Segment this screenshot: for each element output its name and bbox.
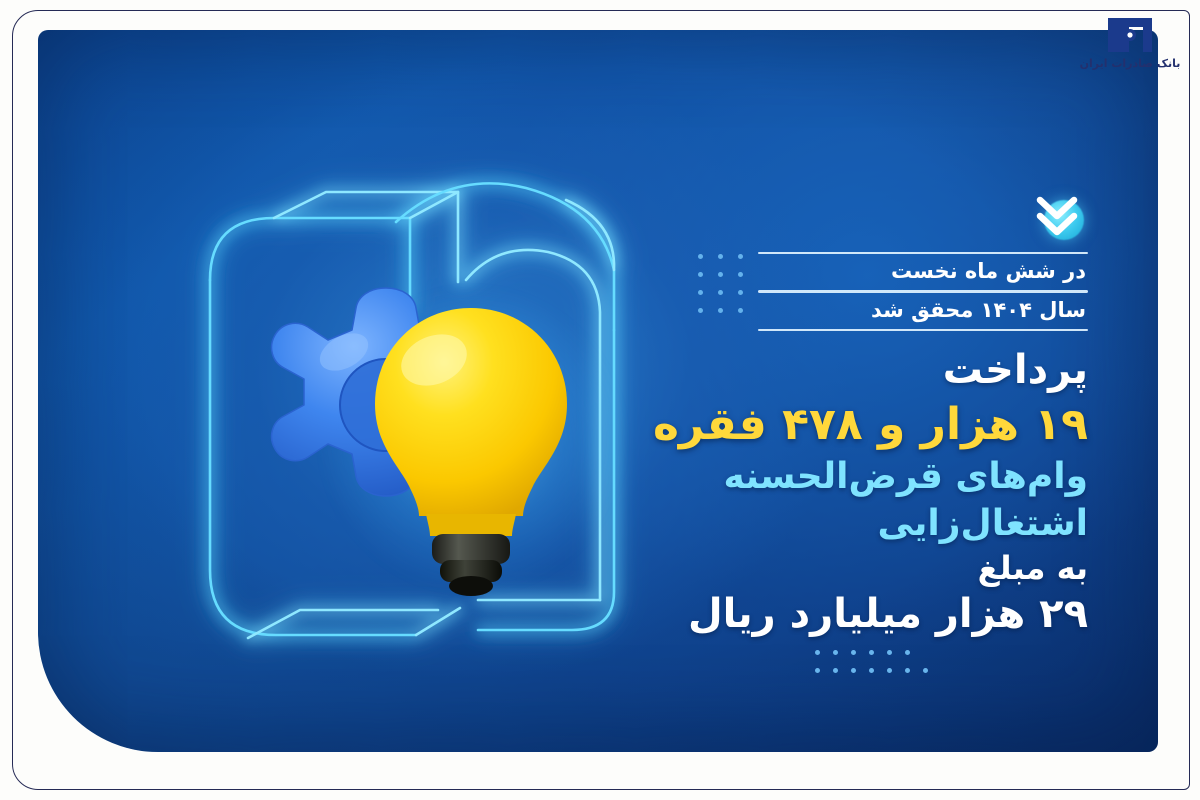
headline-line-4: اشتغال‌زایی <box>528 503 1088 544</box>
kicker-rule-bottom <box>758 329 1088 331</box>
dot <box>718 272 723 277</box>
bottom-dot-row <box>815 668 928 673</box>
bank-saderat-logo-icon <box>1102 14 1158 56</box>
dot <box>833 650 838 655</box>
brand-name: بانک صادرات ایران <box>1070 57 1190 70</box>
double-chevron-down-icon <box>1026 188 1088 250</box>
headline-line-3: وام‌های قرض‌الحسنه <box>528 456 1088 497</box>
dot <box>905 668 910 673</box>
poster-canvas: در شش ماه نخست سال ۱۴۰۴ محقق شد پرداخت ۱… <box>0 0 1200 800</box>
dot <box>718 290 723 295</box>
dot <box>923 668 928 673</box>
headline-line-2-figure: ۱۹ هزار و ۴۷۸ فقره <box>528 400 1088 450</box>
headline-line-6-amount: ۲۹ هزار میلیارد ریال <box>528 592 1088 638</box>
dot <box>738 308 743 313</box>
chevron-badge <box>1026 188 1088 250</box>
bottom-dot-decoration <box>815 650 928 686</box>
dot <box>698 290 703 295</box>
bottom-dot-row <box>815 650 928 655</box>
brand-logo: بانک صادرات ایران <box>1070 14 1190 84</box>
dot <box>869 650 874 655</box>
headline-block: پرداخت ۱۹ هزار و ۴۷۸ فقره وام‌های قرض‌ال… <box>528 348 1088 644</box>
dot <box>815 668 820 673</box>
kicker-line-1: در شش ماه نخست <box>758 254 1088 290</box>
dot <box>738 254 743 259</box>
dot <box>738 272 743 277</box>
dot <box>718 308 723 313</box>
blue-panel: در شش ماه نخست سال ۱۴۰۴ محقق شد پرداخت ۱… <box>38 30 1158 752</box>
dot <box>851 668 856 673</box>
dot <box>815 650 820 655</box>
kicker-rule-middle <box>758 290 1088 292</box>
dot <box>833 668 838 673</box>
dot <box>718 254 723 259</box>
dot <box>887 650 892 655</box>
headline-line-5: به مبلغ <box>528 550 1088 586</box>
content-column: در شش ماه نخست سال ۱۴۰۴ محقق شد پرداخت ۱… <box>528 30 1088 752</box>
dot <box>869 668 874 673</box>
headline-line-1: پرداخت <box>528 348 1088 394</box>
kicker-block: در شش ماه نخست سال ۱۴۰۴ محقق شد <box>758 252 1088 331</box>
dot <box>887 668 892 673</box>
dot <box>698 272 703 277</box>
dot <box>851 650 856 655</box>
dot <box>738 290 743 295</box>
dot <box>698 308 703 313</box>
kicker-line-2: سال ۱۴۰۴ محقق شد <box>758 293 1088 329</box>
dot-grid-decoration <box>698 254 743 313</box>
dot <box>698 254 703 259</box>
dot <box>905 650 910 655</box>
